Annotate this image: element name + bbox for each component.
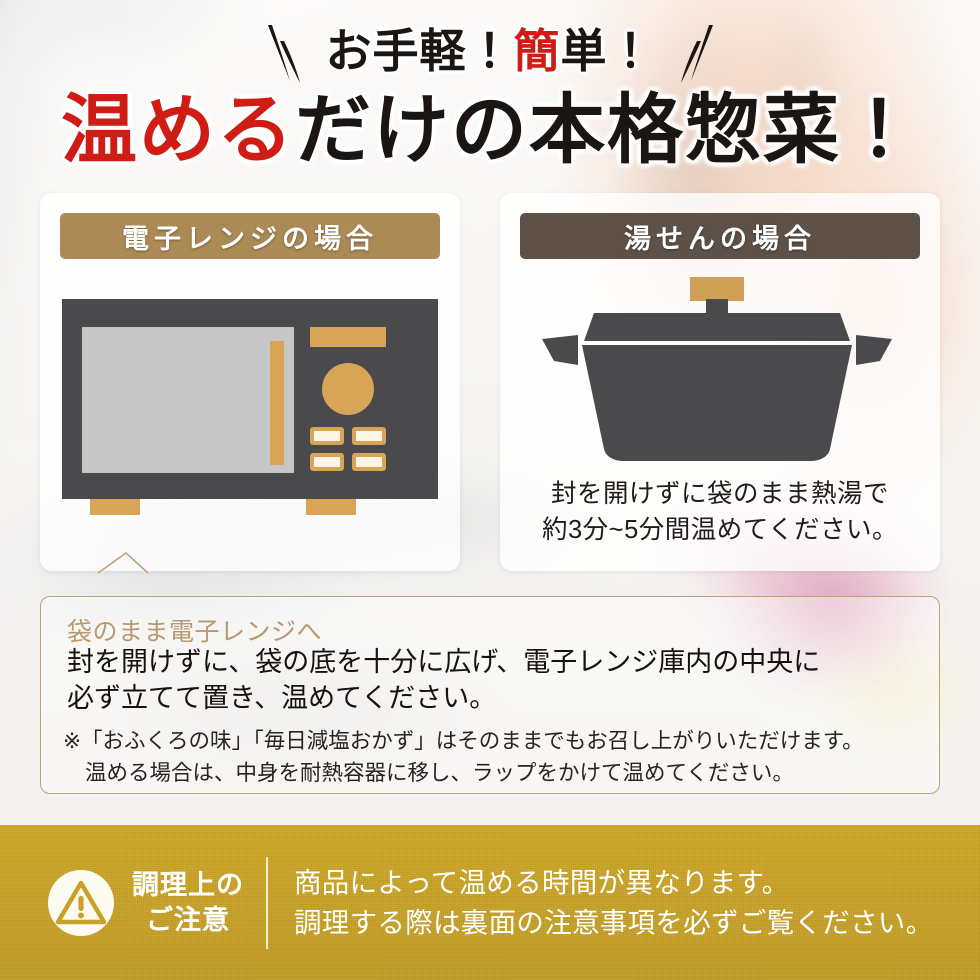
note-heading: 袋のまま電子レンジへ — [67, 612, 322, 648]
brush-slash-right-icon — [671, 19, 717, 85]
microwave-oven-icon — [62, 299, 438, 529]
note-body-text: 封を開けずに、袋の底を十分に広げ、電子レンジ庫内の中央に 必ず立てて置き、温めて… — [67, 645, 923, 717]
caution-text-line-2: 調理する際は裏面の注意事項を必ずご覧ください。 — [294, 903, 933, 943]
headline-line-1-text: お手軽！簡単！ — [326, 29, 655, 75]
headline-line-1: お手軽！簡単！ — [0, 18, 980, 86]
note-small-line-1: ※「おふくろの味」「毎日減塩おかず」はそのままでもお召し上がりいただけます。 — [63, 725, 925, 757]
note-small-line-2: 温める場合は、中身を耐熱容器に移し、ラップをかけて温めてください。 — [63, 757, 925, 789]
caution-label-line-1: 調理上の — [132, 868, 244, 902]
headline-2-red: 温める — [61, 89, 295, 173]
note-body-line-1: 封を開けずに、袋の底を十分に広げ、電子レンジ庫内の中央に — [67, 645, 923, 681]
boiling-instruction-line-2: 約3分~5分間温めてください。 — [500, 512, 940, 548]
method-card-microwave: 電子レンジの場合 — [40, 193, 460, 571]
caution-text: 商品によって温める時間が異なります。 調理する際は裏面の注意事項を必ずご覧くださ… — [294, 863, 933, 943]
headline-1-part-1: お手軽！ — [326, 26, 514, 77]
headline-block: お手軽！簡単！ 温めるだけの本格惣菜！ — [0, 18, 980, 172]
caution-divider — [266, 857, 268, 949]
caution-label: 調理上の ご注意 — [132, 868, 244, 936]
caution-text-line-1: 商品によって温める時間が異なります。 — [294, 863, 933, 903]
method-card-boiling: 湯せんの場合 封を開けずに袋のまま熱湯で 約3分~5分間温めてください。 — [500, 193, 940, 571]
headline-2-black: だけの本格惣菜！ — [295, 89, 919, 173]
headline-1-part-2: 単！ — [561, 26, 655, 77]
cooking-pot-icon — [538, 273, 908, 463]
microwave-card-heading: 電子レンジの場合 — [60, 213, 440, 259]
note-small-print: ※「おふくろの味」「毎日減塩おかず」はそのままでもお召し上がりいただけます。 温… — [63, 725, 925, 790]
caution-label-line-2: ご注意 — [132, 903, 244, 937]
boiling-instruction-text: 封を開けずに袋のまま熱湯で 約3分~5分間温めてください。 — [500, 476, 940, 548]
product-instruction-graphic: お手軽！簡単！ 温めるだけの本格惣菜！ 電子レンジの場合 — [0, 0, 980, 980]
caution-bar: 調理上の ご注意 商品によって温める時間が異なります。 調理する際は裏面の注意事… — [0, 825, 980, 980]
brush-slash-left-icon — [264, 19, 310, 85]
headline-1-red: 簡 — [514, 26, 561, 77]
boiling-instruction-line-1: 封を開けずに袋のまま熱湯で — [500, 476, 940, 512]
boiling-card-heading: 湯せんの場合 — [520, 213, 920, 259]
note-body-line-2: 必ず立てて置き、温めてください。 — [67, 681, 923, 717]
speech-bubble-pointer-icon — [96, 550, 168, 574]
headline-line-2: 温めるだけの本格惣菜！ — [0, 90, 980, 172]
warning-triangle-icon — [48, 870, 114, 936]
microwave-detail-note-card: 袋のまま電子レンジへ 封を開けずに、袋の底を十分に広げ、電子レンジ庫内の中央に … — [40, 596, 940, 794]
